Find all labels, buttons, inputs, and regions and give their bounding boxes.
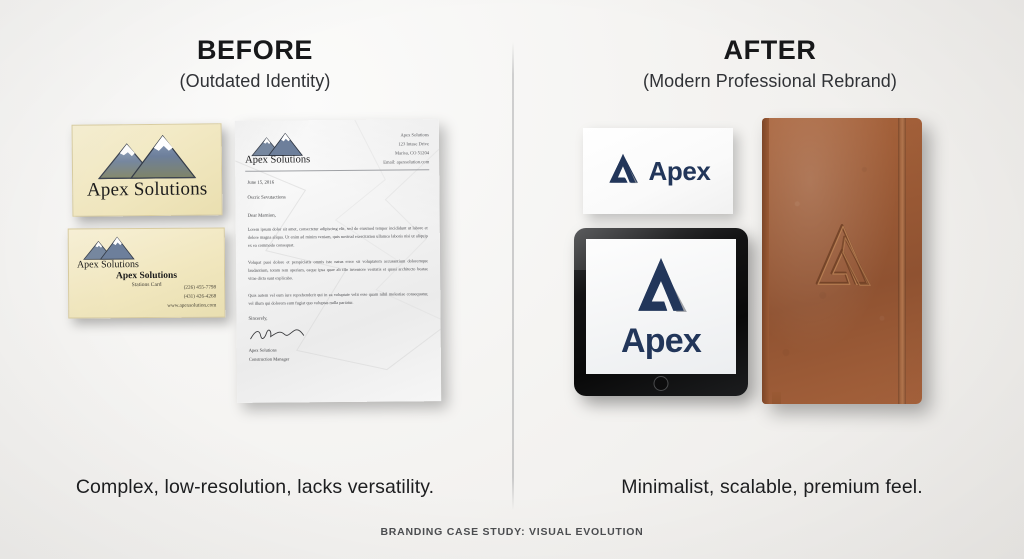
letterhead-address-line-4: Email: apexsolution.com <box>383 158 429 167</box>
old-brand-name: Apex Solutions <box>73 178 221 202</box>
after-subtitle: (Modern Professional Rebrand) <box>575 71 965 92</box>
before-subtitle: (Outdated Identity) <box>60 71 450 92</box>
letterhead-date: June 15, 2016 <box>247 181 274 186</box>
business-card-website: www.apexsolution.com <box>167 301 216 310</box>
tablet-screen: Apex <box>586 239 736 374</box>
after-title: AFTER <box>575 36 965 64</box>
business-card-name: Apex Solutions <box>69 270 224 281</box>
vertical-divider <box>512 42 514 510</box>
mountain-range-icon <box>83 236 135 260</box>
notebook-spine <box>762 118 769 404</box>
letterhead-recipient: Oscric Sevutactions <box>247 195 285 200</box>
letterhead-address-line-3: Marisa, CO 51204 <box>383 149 429 158</box>
letterhead-body-paragraph: Volupat puoi dolore et perspiciatis omni… <box>248 257 428 282</box>
case-study-canvas: BEFORE (Outdated Identity) AFTER (Modern… <box>0 0 1024 559</box>
ribbon-bookmark <box>772 392 781 404</box>
home-button[interactable] <box>654 376 669 391</box>
old-business-card: Apex Solutions Apex Solutions Stations C… <box>68 227 226 318</box>
letterhead-body: Lorem ipsum dolor sit amet, consectetur … <box>248 224 429 316</box>
tablet-device: Apex <box>574 228 748 396</box>
letterhead-closing: Sincerely, <box>248 317 267 322</box>
old-letterhead: Apex Solutions Apex Solutions 123 Intase… <box>235 119 441 403</box>
letterhead-body-paragraph: Quis autem vel eum iure reprehenderit qu… <box>248 290 428 307</box>
letterhead-address-block: Apex Solutions 123 Intase Drive Marisa, … <box>383 131 429 167</box>
new-logo-card: Apex <box>583 128 733 214</box>
elastic-closure-band <box>898 118 906 404</box>
new-wordmark: Apex <box>649 156 711 187</box>
letterhead-body-paragraph: Lorem ipsum dolor sit amet, consectetur … <box>248 224 428 249</box>
before-caption: Complex, low-resolution, lacks versatili… <box>58 476 452 499</box>
business-card-contact-block: (226) 455-7798 (431) 426-4268 www.apexso… <box>167 283 216 311</box>
apex-a-mark-deboss-icon <box>806 222 878 295</box>
letterhead-brand-name: Apex Solutions <box>245 154 310 166</box>
before-heading-group: BEFORE (Outdated Identity) <box>60 36 450 92</box>
letterhead-signature-block: Apex Solutions Construction Manager <box>249 346 290 363</box>
business-card-phone-2: (431) 426-4268 <box>167 292 216 301</box>
signature-icon <box>249 326 305 342</box>
old-logo-card: Apex Solutions <box>72 123 223 217</box>
letterhead-divider-rule <box>245 169 429 172</box>
tablet-wordmark: Apex <box>621 324 701 358</box>
after-heading-group: AFTER (Modern Professional Rebrand) <box>575 36 965 92</box>
letterhead-signature-role: Construction Manager <box>249 355 289 364</box>
letterhead-signature-name: Apex Solutions <box>249 346 289 355</box>
before-title: BEFORE <box>60 36 450 64</box>
mountain-range-icon <box>97 133 197 180</box>
apex-a-mark-icon <box>630 255 692 322</box>
letterhead-greeting: Dear Marnion, <box>248 214 276 219</box>
business-card-phone-1: (226) 455-7798 <box>167 283 216 292</box>
leather-notebook <box>762 118 922 404</box>
apex-a-mark-icon <box>606 152 640 191</box>
after-caption: Minimalist, scalable, premium feel. <box>578 476 966 499</box>
letterhead-address-line-2: 123 Intase Drive <box>383 140 429 149</box>
letterhead-address-line-1: Apex Solutions <box>383 131 429 140</box>
business-card-logo-text: Apex Solutions <box>77 259 139 270</box>
mountain-range-icon <box>251 132 303 156</box>
footer-label: BRANDING CASE STUDY: VISUAL EVOLUTION <box>0 526 1024 538</box>
